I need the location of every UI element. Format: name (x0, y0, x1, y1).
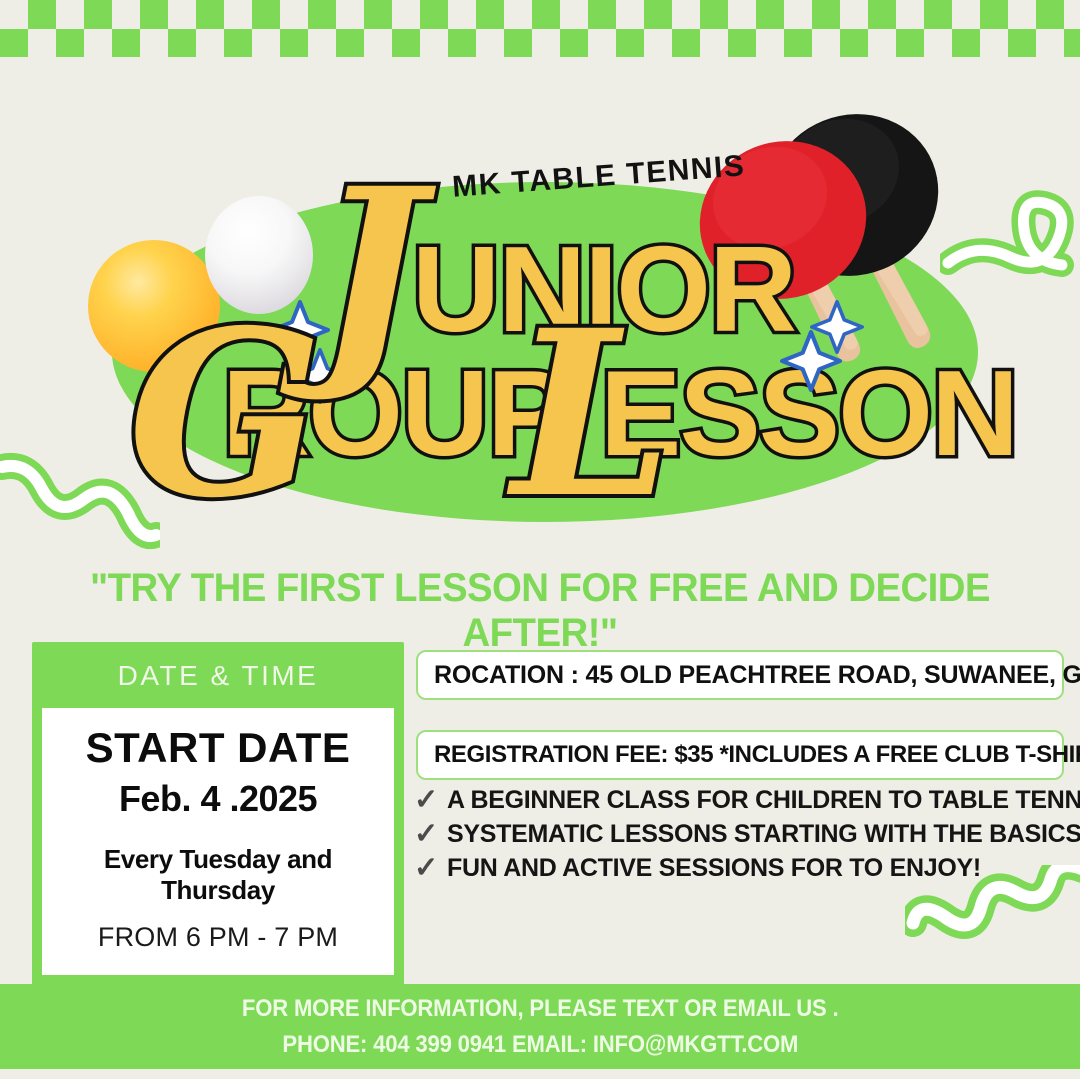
start-date-label: START DATE (52, 724, 384, 772)
start-date-value: Feb. 4 .2025 (52, 778, 384, 820)
features-list: ✓ A BEGINNER CLASS FOR CHILDREN TO TABLE… (414, 786, 1074, 888)
feature-text: FUN AND ACTIVE SESSIONS FOR TO ENJOY! (447, 854, 981, 883)
date-time-card: DATE & TIME START DATE Feb. 4 .2025 Ever… (32, 642, 404, 1009)
check-icon: ✓ (414, 786, 438, 815)
script-letter-g: G (128, 300, 323, 528)
date-time-header: DATE & TIME (32, 642, 404, 708)
list-item: ✓ FUN AND ACTIVE SESSIONS FOR TO ENJOY! (414, 854, 1074, 883)
registration-fee-pill: REGISTRATION FEE: $35 *INCLUDES A FREE C… (416, 730, 1064, 780)
registration-fee-text: REGISTRATION FEE: $35 *INCLUDES A FREE C… (434, 741, 1080, 769)
footer-line-2: PHONE: 404 399 0941 EMAIL: INFO@MKGTT.CO… (282, 1031, 798, 1059)
footer-line-1: FOR MORE INFORMATION, PLEASE TEXT OR EMA… (242, 995, 839, 1023)
checkerboard-band (0, 0, 1080, 57)
script-letter-j: J (316, 158, 424, 386)
list-item: ✓ SYSTEMATIC LESSONS STARTING WITH THE B… (414, 820, 1074, 849)
poster-canvas: MK TABLE TENNIS J UNIOR G ROUP L ESSON "… (0, 0, 1080, 1079)
script-letter-l: L (512, 300, 672, 528)
location-pill: ROCATION : 45 OLD PEACHTREE ROAD, SUWANE… (416, 650, 1064, 700)
schedule-hours: FROM 6 PM - 7 PM (52, 922, 384, 953)
check-icon: ✓ (414, 820, 438, 849)
check-icon: ✓ (414, 854, 438, 883)
list-item: ✓ A BEGINNER CLASS FOR CHILDREN TO TABLE… (414, 786, 1074, 815)
contact-footer: FOR MORE INFORMATION, PLEASE TEXT OR EMA… (0, 984, 1080, 1069)
feature-text: A BEGINNER CLASS FOR CHILDREN TO TABLE T… (447, 786, 1080, 815)
feature-text: SYSTEMATIC LESSONS STARTING WITH THE BAS… (447, 820, 1080, 849)
schedule-days: Every Tuesday and Thursday (52, 844, 384, 906)
location-text: ROCATION : 45 OLD PEACHTREE ROAD, SUWANE… (434, 661, 1080, 690)
date-time-body: START DATE Feb. 4 .2025 Every Tuesday an… (42, 708, 394, 975)
